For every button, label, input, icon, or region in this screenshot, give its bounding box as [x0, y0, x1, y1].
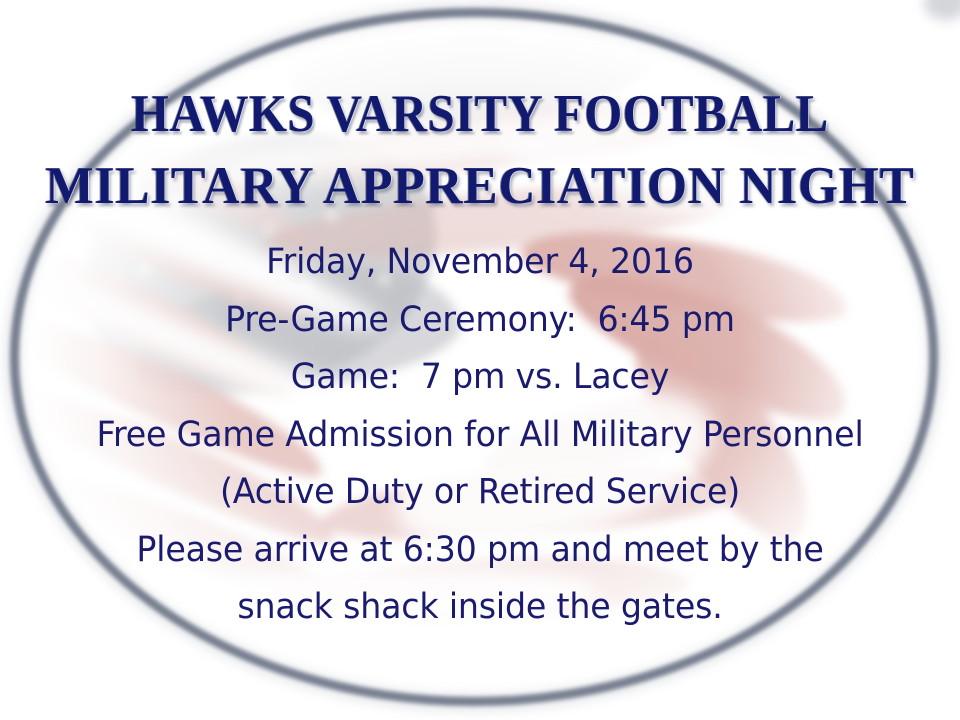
- detail-line-ceremony: Pre-Game Ceremony: 6:45 pm: [24, 292, 936, 350]
- detail-line-meeting: snack shack inside the gates.: [24, 579, 936, 637]
- detail-line-admission: Free Game Admission for All Military Per…: [24, 407, 936, 465]
- flyer-content: HAWKS VARSITY FOOTBALL MILITARY APPRECIA…: [0, 0, 960, 720]
- military-appreciation-night-flyer: ★ ★ ★ ★ ★ ★ ★ ★ ★ ★ ★ ★ ★: [0, 0, 960, 720]
- headline-line-1: HAWKS VARSITY FOOTBALL: [38, 88, 921, 141]
- flyer-details: Friday, November 4, 2016 Pre-Game Ceremo…: [0, 234, 960, 637]
- detail-line-game: Game: 7 pm vs. Lacey: [24, 349, 936, 407]
- detail-line-arrival: Please arrive at 6:30 pm and meet by the: [24, 522, 936, 580]
- detail-line-eligibility: (Active Duty or Retired Service): [24, 464, 936, 522]
- detail-line-date: Friday, November 4, 2016: [24, 234, 936, 292]
- headline-line-2: MILITARY APPRECIATION NIGHT: [14, 160, 945, 213]
